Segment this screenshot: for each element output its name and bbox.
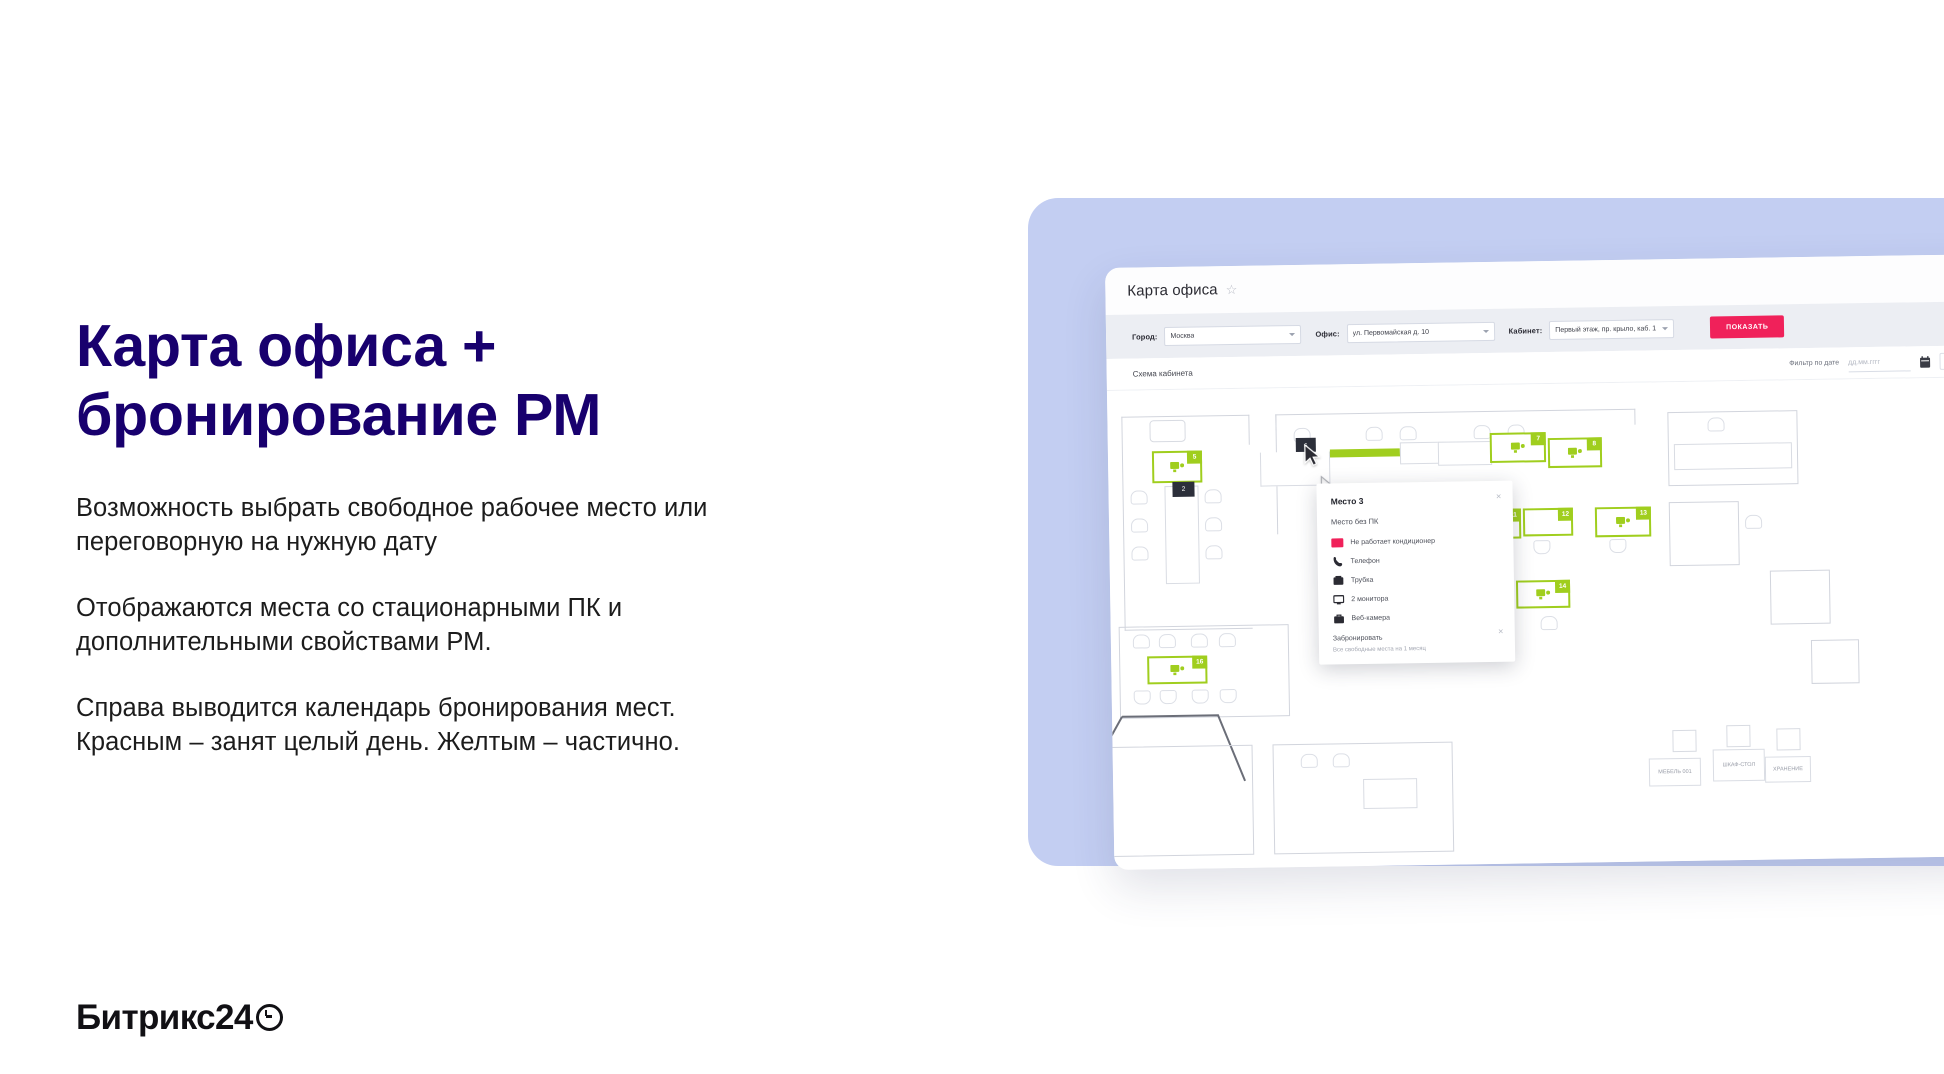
- city-label: Город:: [1132, 332, 1158, 341]
- chevron-down-icon: [1483, 329, 1489, 332]
- description-paragraph-3: Справа выводится календарь бронирования …: [76, 692, 776, 760]
- chevron-down-icon: [1289, 333, 1295, 336]
- phone-icon: [1332, 555, 1344, 567]
- app-title: Карта офиса: [1127, 281, 1218, 299]
- clock-icon: [256, 1004, 283, 1031]
- seat-badge-13: 13: [1636, 506, 1651, 519]
- office-select-value: ул. Первомайская д. 10: [1353, 328, 1430, 336]
- star-icon[interactable]: ☆: [1226, 283, 1238, 296]
- map-chair: [1609, 539, 1626, 553]
- map-chair: [1366, 427, 1383, 441]
- description-paragraph-2: Отображаются места со стационарными ПК и…: [76, 592, 776, 660]
- map-chair: [1204, 489, 1221, 503]
- printer-icon: [1332, 574, 1344, 586]
- room-label: Кабинет:: [1509, 326, 1543, 336]
- seat-marker-8[interactable]: 8: [1548, 437, 1602, 468]
- map-wall: [1107, 745, 1254, 860]
- city-filter-group: Город: Москва: [1132, 324, 1302, 346]
- seat-badge-2[interactable]: 2: [1172, 482, 1194, 497]
- map-chair: [1159, 634, 1176, 648]
- room-select[interactable]: Первый этаж, пр. крыло, каб. 1: [1549, 319, 1674, 340]
- map-chair: [1745, 515, 1762, 529]
- red-swatch-icon: [1331, 536, 1343, 548]
- popup-feature-row: Телефон: [1332, 553, 1500, 568]
- map-desk-highlight: [1330, 448, 1400, 457]
- page-title: Карта офиса + бронирование РМ: [76, 312, 776, 450]
- monitor-icon: [1616, 516, 1630, 527]
- seat-badge-12: 12: [1558, 508, 1573, 521]
- monitor-icon: [1170, 461, 1184, 472]
- map-box-label: ХРАНЕНИЕ: [1765, 756, 1811, 783]
- popup-feature-label: Не работает кондиционер: [1350, 537, 1435, 545]
- map-chair: [1131, 546, 1148, 560]
- popup-feature-label: Трубка: [1351, 576, 1374, 583]
- seat-marker-12[interactable]: 12: [1523, 508, 1573, 537]
- bitrix24-logo: Битрикс24: [76, 1000, 283, 1035]
- office-map[interactable]: 5 2 6 7: [1107, 375, 1944, 870]
- map-chair: [1205, 545, 1222, 559]
- map-table: [1164, 486, 1200, 585]
- monitor-icon: [1332, 593, 1344, 605]
- office-filter-group: Офис: ул. Первомайская д. 10: [1315, 321, 1494, 343]
- close-icon[interactable]: ✕: [1496, 493, 1502, 501]
- popup-feature-label: Веб-камера: [1351, 614, 1390, 622]
- seat-tooltip-popup[interactable]: ✕ Место 3 Место без ПК Не работает конди…: [1316, 481, 1515, 665]
- map-chair: [1205, 517, 1222, 531]
- office-label: Офис:: [1315, 329, 1339, 338]
- popup-feature-row: Веб-камера: [1332, 610, 1500, 625]
- popup-feature-label: Телефон: [1351, 557, 1380, 564]
- seat-badge-5: 5: [1187, 451, 1202, 464]
- map-chair: [1707, 417, 1724, 431]
- seat-marker-14[interactable]: 14: [1516, 580, 1570, 609]
- seat-marker-5[interactable]: 5: [1152, 451, 1202, 484]
- map-wall: [1275, 409, 1635, 431]
- briefcase-icon: [1332, 612, 1344, 624]
- slide-root: Карта офиса + бронирование РМ Возможност…: [0, 0, 1944, 1074]
- map-chair: [1131, 518, 1148, 532]
- seat-badge-16: 16: [1192, 655, 1207, 668]
- seat-marker-13[interactable]: 13: [1595, 506, 1651, 537]
- date-input[interactable]: дд.мм.гггг: [1848, 353, 1910, 372]
- map-wall: [1770, 570, 1831, 625]
- calendar-icon[interactable]: [1919, 356, 1930, 368]
- headline-line-1: Карта офиса +: [76, 313, 496, 379]
- popup-book-label[interactable]: Забронировать: [1333, 633, 1501, 643]
- headline-line-2: бронирование РМ: [76, 381, 776, 450]
- popup-expand-icon[interactable]: ✕: [1498, 628, 1504, 636]
- map-furniture: [1672, 730, 1696, 752]
- map-chair: [1333, 753, 1350, 767]
- popup-feature-row: Трубка: [1332, 572, 1500, 587]
- map-desk: [1363, 778, 1417, 809]
- map-furniture: [1726, 725, 1750, 747]
- popup-note: Все свободные места на 1 месяц: [1333, 645, 1501, 654]
- monitor-icon: [1568, 447, 1582, 458]
- map-desk: [1674, 442, 1792, 470]
- map-furniture: [1149, 420, 1185, 443]
- city-select[interactable]: Москва: [1164, 324, 1301, 345]
- map-chair: [1474, 425, 1491, 439]
- map-chair: [1191, 633, 1208, 647]
- seat-badge-7: 7: [1531, 432, 1546, 445]
- map-chair: [1219, 633, 1236, 647]
- popup-title: Место 3: [1331, 494, 1499, 507]
- monitor-icon: [1536, 589, 1550, 600]
- room-filter-group: Кабинет: Первый этаж, пр. крыло, каб. 1: [1508, 319, 1674, 341]
- map-box-label: ШКАФ-СТОЛ: [1713, 749, 1765, 782]
- popup-subtitle: Место без ПК: [1331, 515, 1499, 527]
- city-select-value: Москва: [1170, 332, 1194, 339]
- logo-text: Битрикс24: [76, 1000, 253, 1035]
- map-box-label: МЕБЕЛЬ 001: [1649, 758, 1701, 787]
- map-chair: [1133, 634, 1150, 648]
- show-button[interactable]: ПОКАЗАТЬ: [1710, 315, 1784, 338]
- map-desk: [1438, 441, 1492, 466]
- popup-feature-row: 2 монитора: [1332, 591, 1500, 606]
- left-content-column: Карта офиса + бронирование РМ Возможност…: [76, 312, 776, 759]
- map-wall: [1669, 501, 1740, 566]
- map-chair: [1541, 616, 1558, 630]
- map-chair: [1131, 490, 1148, 504]
- office-select[interactable]: ул. Первомайская д. 10: [1346, 321, 1494, 342]
- app-window: Карта офиса ☆ Город: Москва Офис: ул. Пе…: [1105, 252, 1944, 870]
- room-select-value: Первый этаж, пр. крыло, каб. 1: [1555, 325, 1656, 334]
- date-filter-label: Фильтр по дате: [1789, 359, 1839, 367]
- filter-controls: Фильтр по дате дд.мм.гггг Не выбрано Очи…: [1789, 350, 1944, 373]
- map-furniture: [1776, 728, 1800, 750]
- popup-feature-row: Не работает кондиционер: [1331, 534, 1499, 549]
- monitor-icon: [1511, 442, 1525, 453]
- description-paragraph-1: Возможность выбрать свободное рабочее ме…: [76, 492, 776, 560]
- map-wall: [1811, 639, 1860, 684]
- map-chair: [1533, 540, 1550, 554]
- chevron-down-icon: [1662, 327, 1668, 330]
- seat-badge-14: 14: [1555, 580, 1570, 593]
- map-chair: [1301, 754, 1318, 768]
- seat-badge-8: 8: [1587, 437, 1602, 450]
- scheme-label: Схема кабинета: [1133, 369, 1193, 379]
- popup-feature-label: 2 монитора: [1351, 595, 1388, 603]
- map-chair: [1400, 426, 1417, 440]
- status-select[interactable]: Не выбрано: [1939, 352, 1944, 370]
- seat-marker-7[interactable]: 7: [1490, 432, 1546, 463]
